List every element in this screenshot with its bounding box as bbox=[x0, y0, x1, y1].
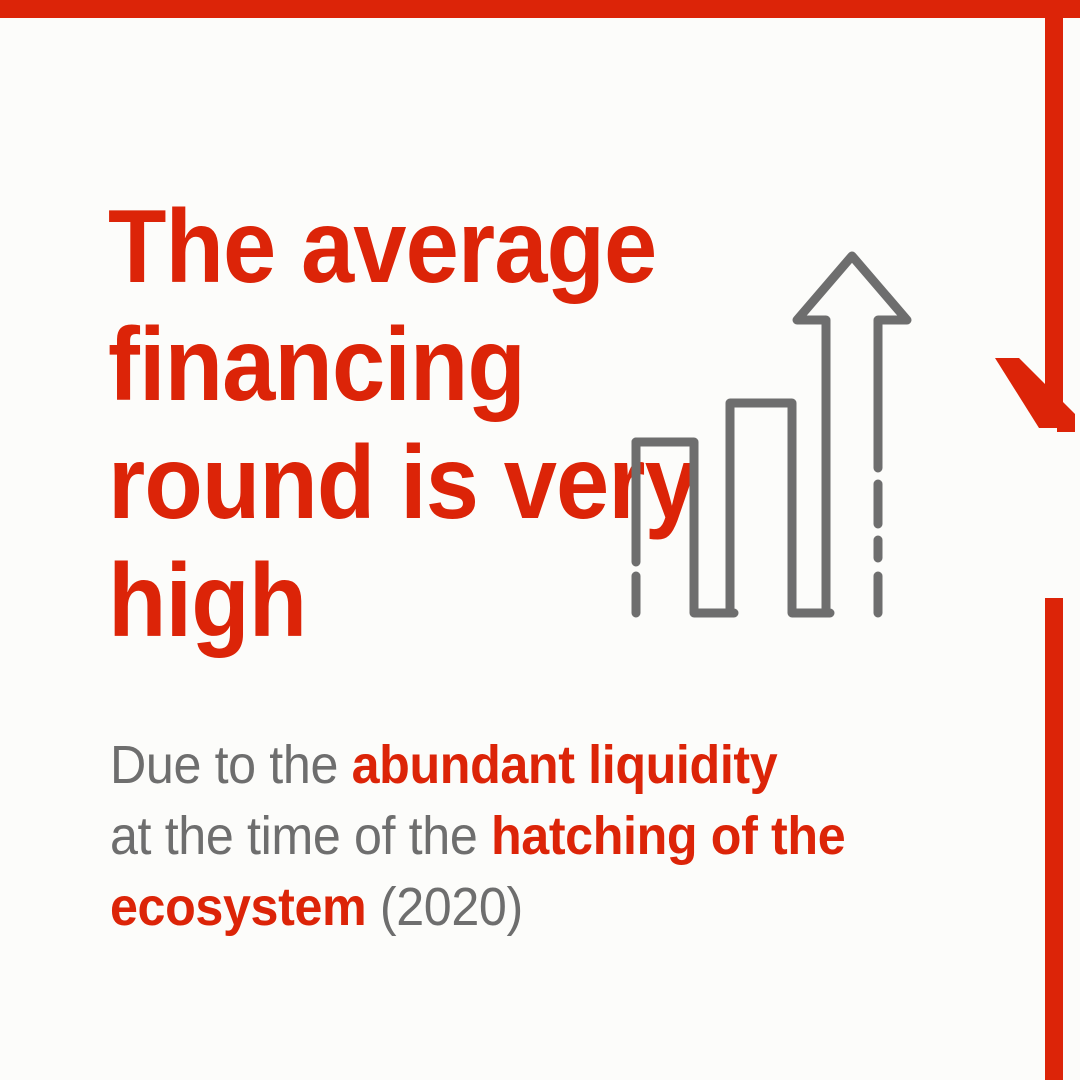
subtitle-line-2: at the time of the hatching of the bbox=[110, 801, 882, 872]
subtitle-segment-plain: at the time of the bbox=[110, 806, 491, 866]
subtitle-segment-strong: ecosystem bbox=[110, 877, 366, 937]
headline-line-3: round is very bbox=[108, 424, 678, 542]
bar-2-outline bbox=[730, 403, 830, 613]
bar-chart-up-arrow-svg bbox=[620, 248, 920, 623]
right-red-bar-lower bbox=[1045, 598, 1063, 1080]
subtitle-segment-plain: Due to the bbox=[110, 735, 352, 795]
top-red-bar bbox=[0, 0, 1080, 18]
subtitle: Due to the abundant liquidity at the tim… bbox=[110, 730, 882, 943]
subtitle-segment-year: (2020) bbox=[366, 877, 523, 937]
page-title: The average financing round is very high bbox=[108, 188, 678, 660]
subtitle-line-3: ecosystem (2020) bbox=[110, 872, 882, 943]
poster-canvas: The average financing round is very high… bbox=[0, 0, 1080, 1080]
arrow-down-right-icon bbox=[995, 358, 1075, 438]
bar-1-outline bbox=[636, 442, 734, 613]
arrow-bar-outline bbox=[797, 256, 907, 613]
headline-line-1: The average bbox=[108, 188, 678, 306]
arrow-down-right-svg bbox=[995, 358, 1075, 438]
subtitle-segment-strong: hatching of the bbox=[491, 806, 845, 866]
subtitle-line-1: Due to the abundant liquidity bbox=[110, 730, 882, 801]
bar-chart-up-arrow-icon bbox=[620, 248, 920, 623]
headline-line-2: financing bbox=[108, 306, 678, 424]
headline-line-4: high bbox=[108, 542, 678, 660]
subtitle-segment-strong: abundant liquidity bbox=[352, 735, 778, 795]
